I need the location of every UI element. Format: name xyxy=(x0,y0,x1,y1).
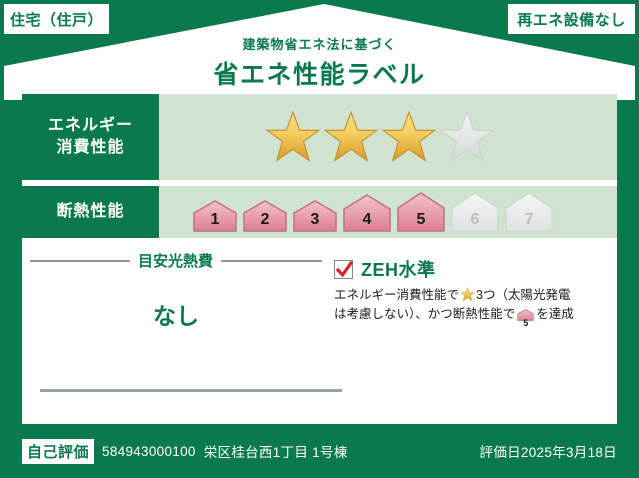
evaluation-date: 評価日2025年3月18日 xyxy=(480,441,617,461)
page-title: 省エネ性能ラベル xyxy=(0,55,639,91)
star-filled-icon xyxy=(323,109,379,165)
footer: 自己評価 584943000100 栄区桂台西1丁目 1号棟 評価日2025年3… xyxy=(0,424,639,478)
energy-label-line2: 消費性能 xyxy=(56,137,124,159)
zeh-desc-part2: は考慮しない）、かつ断熱性能で xyxy=(334,307,515,321)
insulation-label-line1: 断熱性能 xyxy=(56,201,124,223)
insulation-rating-body: 1 2 3 4 xyxy=(159,186,617,238)
section-divider xyxy=(40,389,342,392)
check-icon xyxy=(336,261,353,279)
house-level-number: 7 xyxy=(504,211,554,229)
zeh-description: エネルギー消費性能で3つ（太陽光発電 は考慮しない）、かつ断熱性能で5を達成 xyxy=(334,286,602,328)
energy-performance-row: エネルギー 消費性能 xyxy=(22,94,617,180)
house-level-number: 4 xyxy=(342,211,392,229)
utility-cost-section: 目安光熱費 なし xyxy=(22,244,322,392)
property-id: 584943000100 xyxy=(102,444,196,459)
title-subtitle: 建築物省エネ法に基づく xyxy=(0,34,639,53)
insulation-level-scale: 1 2 3 4 xyxy=(192,191,554,233)
star-rating xyxy=(265,109,495,165)
zeh-desc-part3: を達成 xyxy=(536,307,574,321)
house-level-number: 1 xyxy=(192,211,238,229)
inline-house-number: 5 xyxy=(517,319,534,328)
house-level-icon-empty: 6 xyxy=(450,191,500,233)
house-level-icon: 1 xyxy=(192,199,238,233)
zeh-desc-star-count: 3つ（太陽光発電 xyxy=(476,288,570,302)
building-type-label: 住宅（住戸） xyxy=(10,9,103,30)
utility-cost-title: 目安光熱費 xyxy=(138,250,213,271)
house-level-icon: 5 xyxy=(396,191,446,233)
zeh-heading: ZEH水準 xyxy=(334,256,617,282)
zeh-desc-part1: エネルギー消費性能で xyxy=(334,288,459,302)
house-level-number: 2 xyxy=(242,211,288,229)
renewable-energy-badge: 再エネ設備なし xyxy=(508,4,635,34)
energy-label-line1: エネルギー xyxy=(48,115,133,137)
house-level-number: 5 xyxy=(396,211,446,229)
star-filled-icon xyxy=(265,109,321,165)
insulation-performance-label: 断熱性能 xyxy=(22,186,159,238)
inline-house-icon: 5 xyxy=(517,308,534,328)
zeh-title: ZEH水準 xyxy=(361,256,436,282)
house-level-number: 6 xyxy=(450,211,500,229)
zeh-section: ZEH水準 エネルギー消費性能で3つ（太陽光発電 は考慮しない）、かつ断熱性能で… xyxy=(322,244,617,392)
renewable-energy-label: 再エネ設備なし xyxy=(517,9,626,30)
house-level-icon: 3 xyxy=(292,199,338,233)
insulation-performance-row: 断熱性能 1 2 xyxy=(22,186,617,238)
star-filled-icon xyxy=(381,109,437,165)
building-type-badge: 住宅（住戸） xyxy=(4,4,109,34)
zeh-checkbox[interactable] xyxy=(334,260,353,279)
energy-rating-body xyxy=(159,94,617,180)
lower-section: 目安光熱費 なし ZEH水準 エネルギー消費性能で3つ（太陽光発電 は考慮しない… xyxy=(22,244,617,392)
house-level-number: 3 xyxy=(292,211,338,229)
label-card: エネルギー 消費性能 xyxy=(22,94,617,424)
heading-rule-right xyxy=(221,260,322,262)
label-title-block: 建築物省エネ法に基づく 省エネ性能ラベル xyxy=(0,34,639,91)
energy-performance-label: エネルギー 消費性能 xyxy=(22,94,159,180)
self-assessment-badge: 自己評価 xyxy=(22,439,94,464)
heading-rule-left xyxy=(30,260,130,262)
house-level-icon: 4 xyxy=(342,193,392,233)
utility-cost-value: なし xyxy=(30,297,322,331)
star-empty-icon xyxy=(439,109,495,165)
property-address: 栄区桂台西1丁目 1号棟 xyxy=(204,441,348,461)
utility-cost-heading: 目安光熱費 xyxy=(30,250,322,271)
house-level-icon-empty: 7 xyxy=(504,191,554,233)
inline-star-icon xyxy=(460,287,475,302)
house-level-icon: 2 xyxy=(242,199,288,233)
